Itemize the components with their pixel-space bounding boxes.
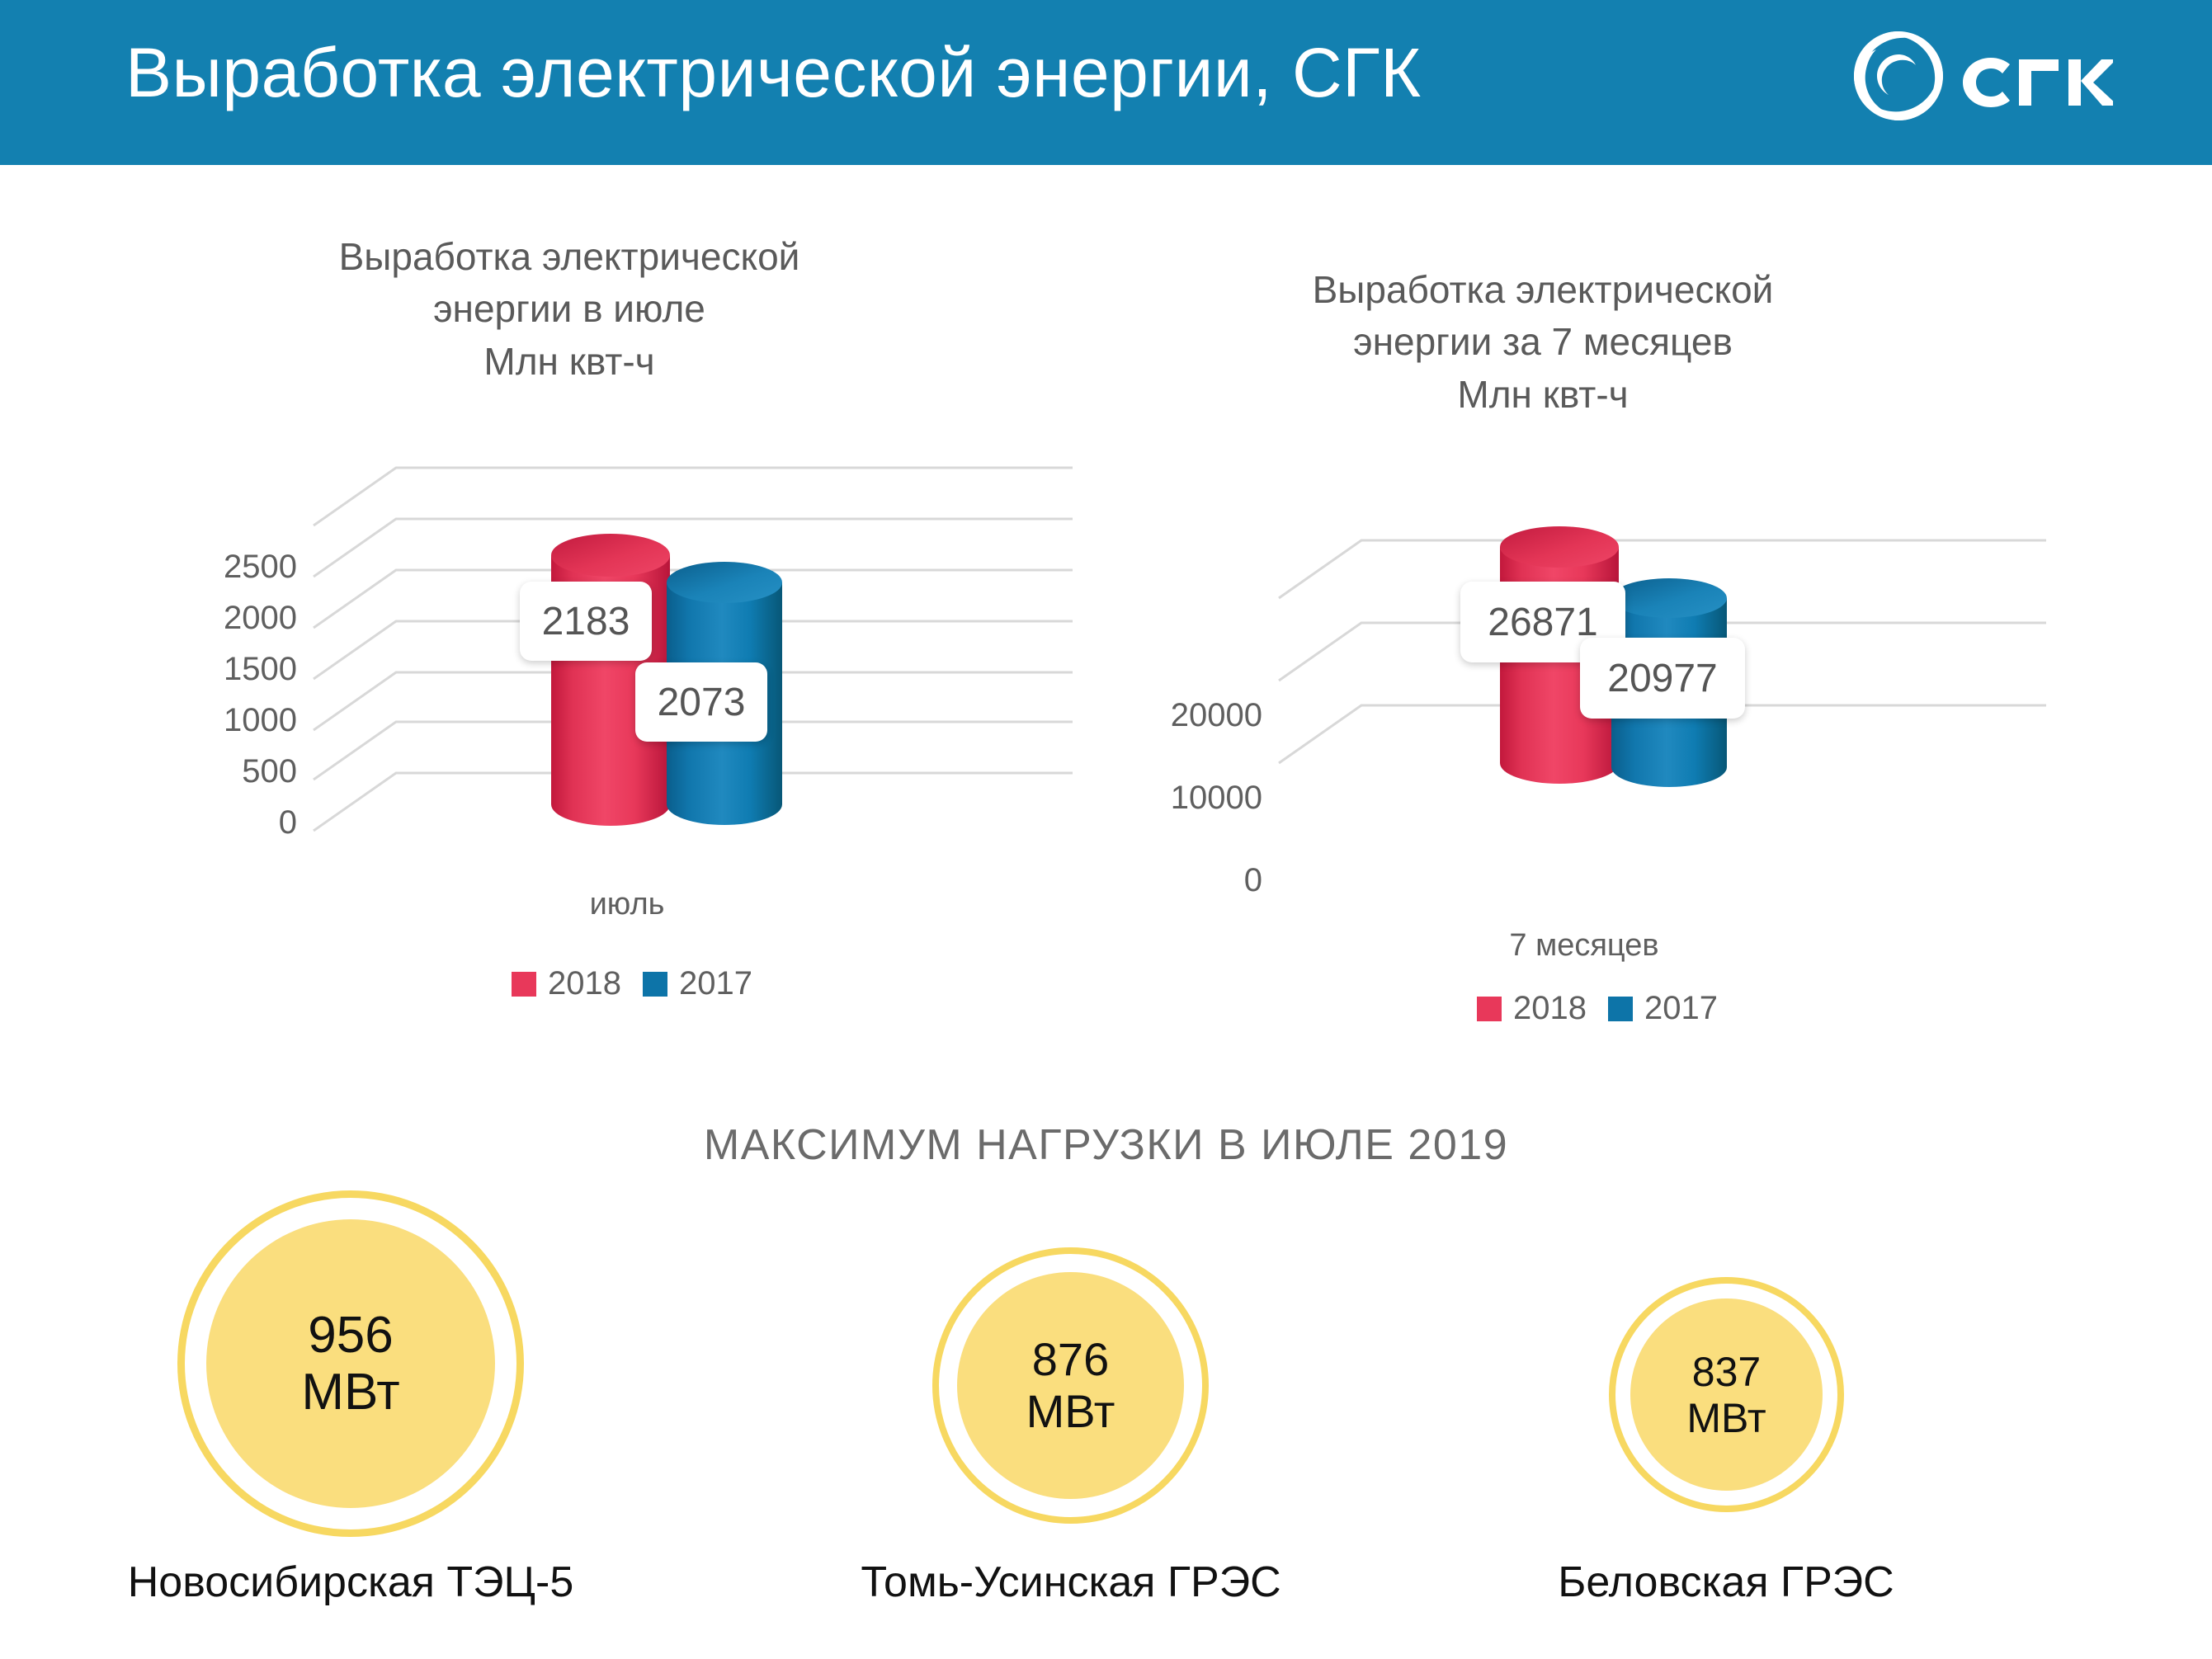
- ytick-7months-0: 0: [1064, 862, 1262, 899]
- max-load-disc-1: 956 МВт: [206, 1219, 495, 1508]
- chart-july: Выработка электрической энергии в июле М…: [231, 231, 1073, 1072]
- max-load-section-title: МАКСИМУМ НАГРУЗКИ В ИЮЛЕ 2019: [0, 1120, 2212, 1170]
- ytick-7months-10000: 10000: [1064, 780, 1262, 817]
- ytick-july-2000: 2000: [132, 600, 297, 637]
- category-label-7months: 7 месяцев: [1444, 928, 1724, 964]
- page-header: Выработка электрической энергии, СГК: [0, 0, 2212, 165]
- max-load-unit-1: МВт: [301, 1364, 399, 1421]
- sgk-swirl-logo-icon: [1849, 26, 2113, 134]
- data-label-7months-2017: 20977: [1580, 638, 1745, 719]
- legend-swatch-2018-icon: [1477, 997, 1502, 1021]
- legend-swatch-2018-icon: [512, 972, 536, 997]
- legend-swatch-2017-icon: [643, 972, 667, 997]
- max-load-unit-2: МВт: [1026, 1386, 1115, 1438]
- category-label-july: июль: [503, 887, 751, 922]
- chart-7months: Выработка электрической энергии за 7 мес…: [1205, 264, 2046, 1089]
- max-load-card-3: 837 МВт: [1609, 1277, 1844, 1512]
- page-title: Выработка электрической энергии, СГК: [125, 33, 1422, 113]
- ytick-7months-20000: 20000: [1064, 697, 1262, 734]
- ytick-july-500: 500: [132, 753, 297, 790]
- max-load-value-2: 876: [1032, 1334, 1109, 1386]
- data-label-july-2018: 2183: [520, 582, 652, 661]
- legend-label-july-2018: 2018: [548, 965, 621, 1002]
- legend-label-july-2017: 2017: [679, 965, 752, 1002]
- chart-july-title-line2: энергии в июле: [256, 283, 883, 335]
- max-load-plant-name-1: Новосибирская ТЭЦ-5: [21, 1558, 681, 1607]
- ytick-july-1500: 1500: [132, 651, 297, 688]
- data-label-july-2017-value: 2073: [658, 680, 746, 725]
- chart-july-plot: 2183 2073: [231, 450, 1073, 846]
- chart-7months-title-line3: Млн квт-ч: [1229, 369, 1856, 421]
- chart-july-title-line3: Млн квт-ч: [256, 336, 883, 388]
- chart-july-title: Выработка электрической энергии в июле М…: [256, 231, 883, 388]
- legend-item-july-2017[interactable]: 2017: [643, 965, 752, 1002]
- max-load-disc-3: 837 МВт: [1630, 1298, 1823, 1491]
- sgk-logo: [1849, 26, 2113, 134]
- legend-7months: 2018 2017: [1477, 990, 1718, 1027]
- max-load-plant-name-2: Томь-Усинская ГРЭС: [741, 1558, 1401, 1607]
- max-load-value-1: 956: [308, 1307, 393, 1364]
- max-load-plant-name-3: Беловская ГРЭС: [1396, 1558, 2056, 1607]
- chart-7months-plot: 26871 20977: [1205, 491, 2046, 821]
- legend-swatch-2017-icon: [1608, 997, 1633, 1021]
- legend-label-7months-2017: 2017: [1644, 990, 1718, 1027]
- data-label-7months-2018-value: 26871: [1488, 600, 1597, 645]
- ytick-july-2500: 2500: [132, 549, 297, 586]
- legend-item-july-2018[interactable]: 2018: [512, 965, 621, 1002]
- legend-label-7months-2018: 2018: [1513, 990, 1587, 1027]
- data-label-july-2018-value: 2183: [542, 599, 630, 644]
- chart-7months-title: Выработка электрической энергии за 7 мес…: [1229, 264, 1856, 421]
- data-label-july-2017: 2073: [635, 662, 767, 742]
- max-load-card-2: 876 МВт: [932, 1247, 1209, 1524]
- legend-item-7months-2018[interactable]: 2018: [1477, 990, 1587, 1027]
- max-load-disc-2: 876 МВт: [957, 1272, 1184, 1499]
- max-load-value-3: 837: [1692, 1349, 1761, 1395]
- max-load-unit-3: МВт: [1686, 1395, 1766, 1441]
- ytick-july-0: 0: [132, 804, 297, 841]
- chart-7months-title-line1: Выработка электрической: [1229, 264, 1856, 316]
- legend-item-7months-2017[interactable]: 2017: [1608, 990, 1718, 1027]
- legend-july: 2018 2017: [512, 965, 752, 1002]
- chart-7months-title-line2: энергии за 7 месяцев: [1229, 316, 1856, 368]
- chart-july-title-line1: Выработка электрической: [256, 231, 883, 283]
- data-label-7months-2017-value: 20977: [1607, 656, 1717, 701]
- max-load-card-1: 956 МВт: [177, 1190, 524, 1537]
- ytick-july-1000: 1000: [132, 702, 297, 739]
